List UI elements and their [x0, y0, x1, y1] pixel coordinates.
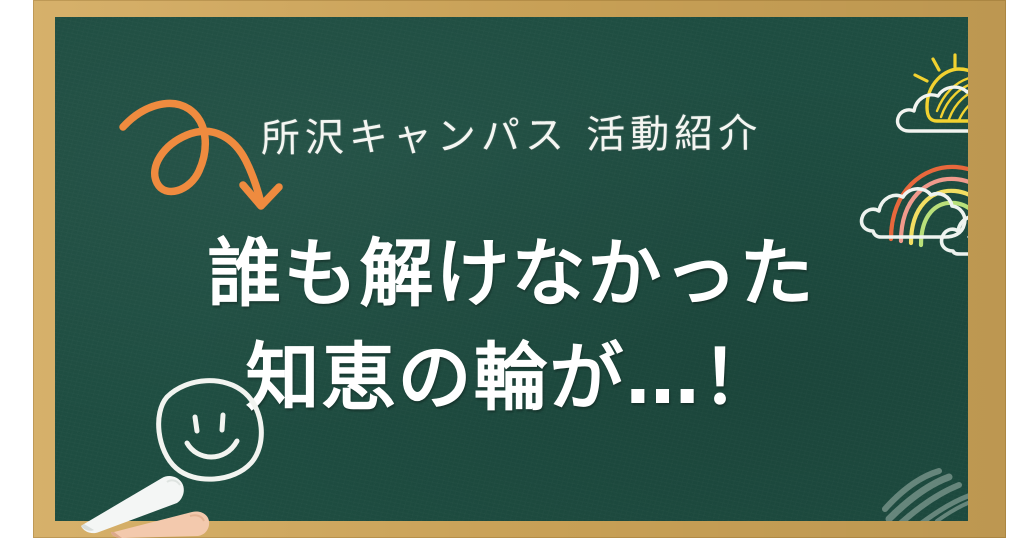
eraser-smudge-icon	[867, 455, 968, 521]
headline-block: 誰も解けなかった 知恵の輪が…！	[55, 222, 968, 430]
chalkboard-surface: 所沢キャンパス 活動紹介 誰も解けなかった 知恵の輪が…！	[55, 17, 968, 521]
banner-canvas: 所沢キャンパス 活動紹介 誰も解けなかった 知恵の輪が…！	[0, 0, 1024, 538]
headline-line-1: 誰も解けなかった	[55, 222, 968, 326]
headline-line-2: 知恵の輪が…！	[55, 326, 968, 430]
subtitle-text: 所沢キャンパス 活動紹介	[55, 100, 968, 166]
